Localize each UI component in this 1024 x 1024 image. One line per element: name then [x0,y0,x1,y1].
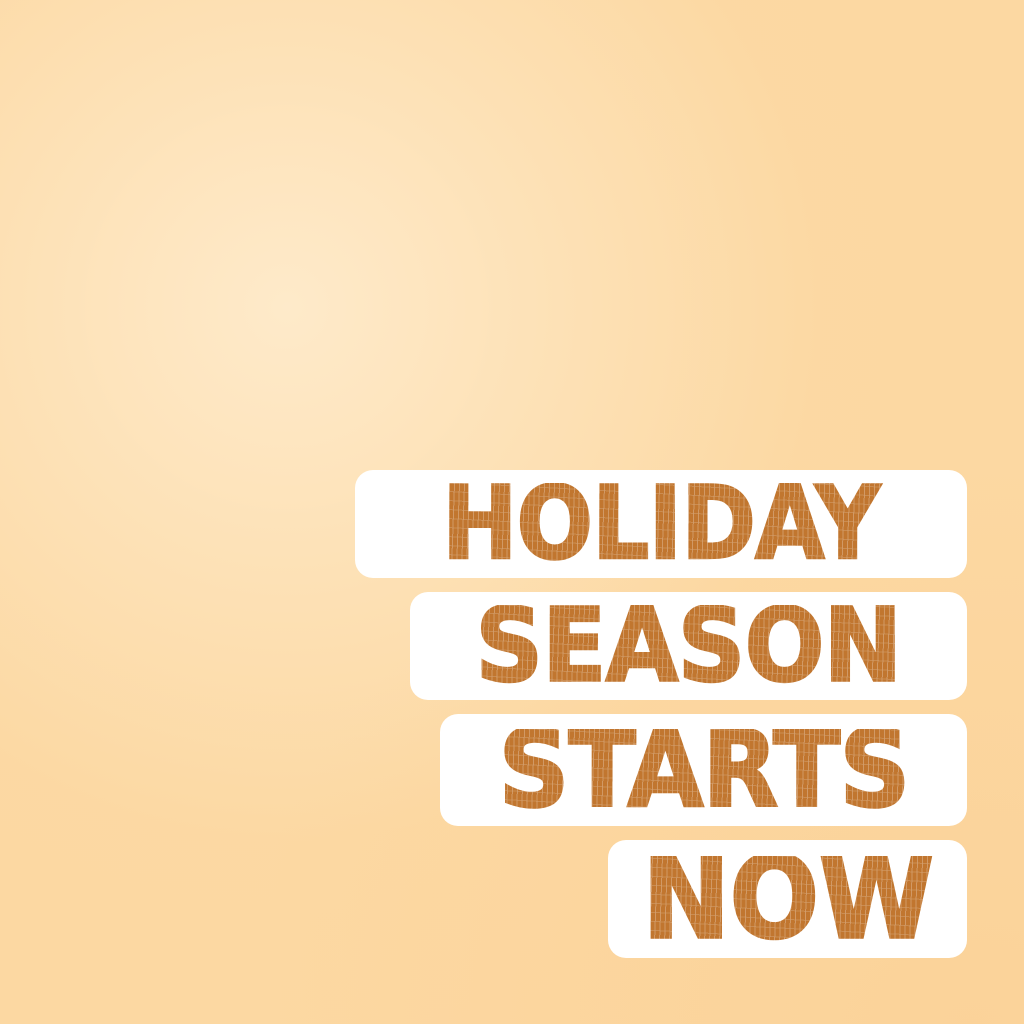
headline-stack: HOLIDAY SEASON STARTS NOW [0,470,967,958]
headline-line-2-wrapper: SEASON [453,605,924,686]
headline-plate-2: SEASON [410,592,967,700]
headline-line-4: NOW [642,856,934,942]
headline-line-3: STARTS [498,729,909,812]
headline-line-1-wrapper: HOLIDAY [408,483,914,564]
headline-line-1: HOLIDAY [442,485,879,564]
headline-plate-3: STARTS [440,714,967,826]
headline-line-2: SEASON [475,606,901,685]
headline-line-3-wrapper: STARTS [483,729,925,812]
headline-plate-1: HOLIDAY [355,470,967,578]
poster-canvas: HOLIDAY SEASON STARTS NOW [0,0,1024,1024]
headline-line-4-wrapper: NOW [636,856,940,942]
headline-plate-4: NOW [608,840,967,958]
